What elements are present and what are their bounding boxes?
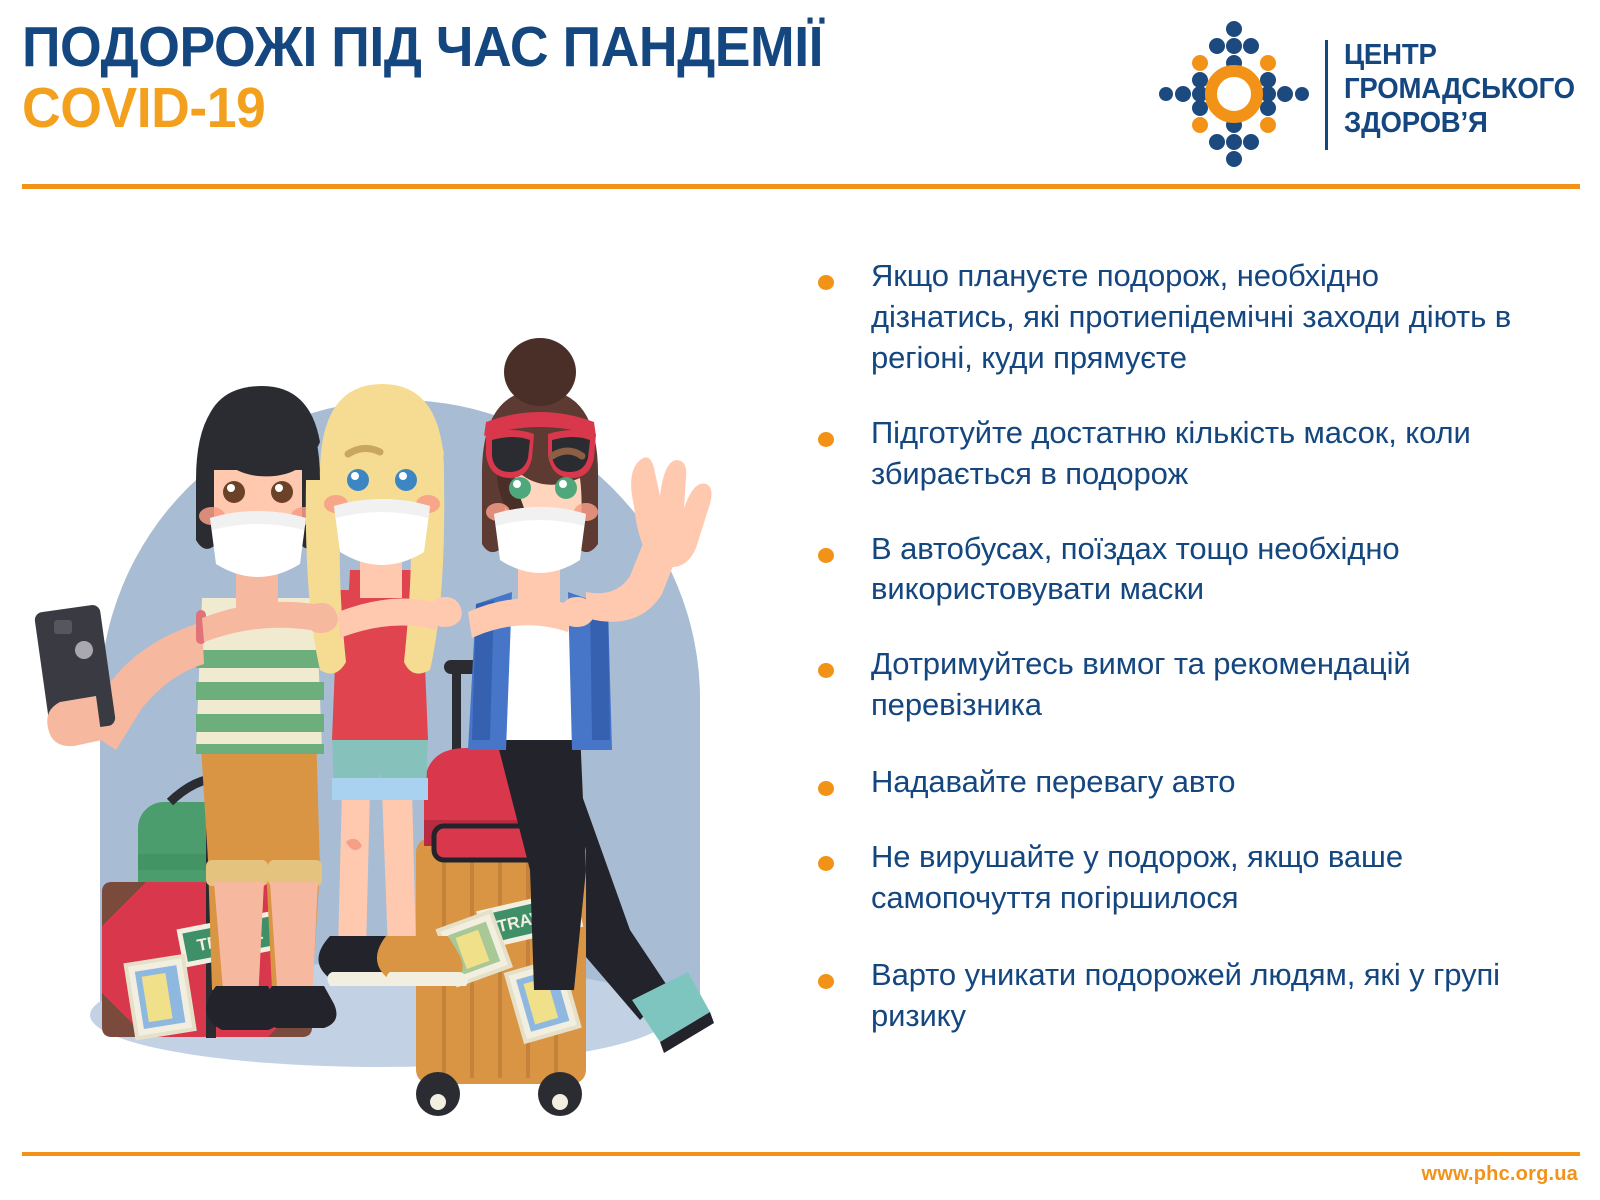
recommendations-list: Якщо плануєте подорож, необхідно дізнати… xyxy=(818,256,1518,1037)
list-item-text: Не вирушайте у подорож, якщо ваше самопо… xyxy=(871,837,1518,919)
bullet-dot-icon xyxy=(818,548,834,563)
header-divider-rule xyxy=(22,184,1580,189)
page-title-line1: ПОДОРОЖІ ПІД ЧАС ПАНДЕМІЇ xyxy=(22,18,1056,77)
logo-wordmark-line2: ГРОМАДСЬКОГО xyxy=(1344,72,1575,106)
bullet-dot-icon xyxy=(818,275,834,290)
organization-logo: ЦЕНТР ГРОМАДСЬКОГО ЗДОРОВ’Я xyxy=(1158,18,1588,168)
logo-wordmark: ЦЕНТР ГРОМАДСЬКОГО ЗДОРОВ’Я xyxy=(1344,38,1587,141)
list-item-text: Якщо плануєте подорож, необхідно дізнати… xyxy=(871,256,1518,379)
infographic-page: ПОДОРОЖІ ПІД ЧАС ПАНДЕМІЇ COVID-19 xyxy=(0,0,1600,1200)
logo-dot-diamond-icon xyxy=(1158,18,1310,170)
bullet-dot-icon xyxy=(818,781,834,796)
list-item-text: Варто уникати подорожей людям, які у гру… xyxy=(871,955,1518,1037)
footer-divider-rule xyxy=(22,1152,1580,1156)
logo-wordmark-line3: ЗДОРОВ’Я xyxy=(1344,106,1575,140)
page-header: ПОДОРОЖІ ПІД ЧАС ПАНДЕМІЇ COVID-19 xyxy=(0,0,1600,190)
list-item: Надавайте перевагу авто xyxy=(818,762,1518,803)
list-item-text: Надавайте перевагу авто xyxy=(871,762,1518,803)
list-item: Не вирушайте у подорож, якщо ваше самопо… xyxy=(818,837,1518,919)
travel-illustration: TRAVEL xyxy=(20,230,780,1130)
bullet-dot-icon xyxy=(818,974,834,989)
list-item: Підготуйте достатню кількість масок, кол… xyxy=(818,413,1518,495)
page-title-line2: COVID-19 xyxy=(22,79,1056,138)
logo-wordmark-line1: ЦЕНТР xyxy=(1344,38,1575,72)
list-item: Дотримуйтесь вимог та рекомендацій перев… xyxy=(818,644,1518,726)
footer-website-link[interactable]: www.phc.org.ua xyxy=(1421,1163,1578,1186)
bullet-dot-icon xyxy=(818,856,834,871)
list-item: Варто уникати подорожей людям, які у гру… xyxy=(818,955,1518,1037)
bullet-dot-icon xyxy=(818,432,834,447)
logo-divider xyxy=(1325,40,1328,150)
list-item-text: Дотримуйтесь вимог та рекомендацій перев… xyxy=(871,644,1518,726)
page-title: ПОДОРОЖІ ПІД ЧАС ПАНДЕМІЇ COVID-19 xyxy=(22,18,1122,139)
list-item: В автобусах, поїздах тощо необхідно вико… xyxy=(818,529,1518,611)
list-item-text: Підготуйте достатню кількість масок, кол… xyxy=(871,413,1518,495)
bullet-dot-icon xyxy=(818,663,834,678)
list-item: Якщо плануєте подорож, необхідно дізнати… xyxy=(818,256,1518,379)
list-item-text: В автобусах, поїздах тощо необхідно вико… xyxy=(871,529,1518,611)
